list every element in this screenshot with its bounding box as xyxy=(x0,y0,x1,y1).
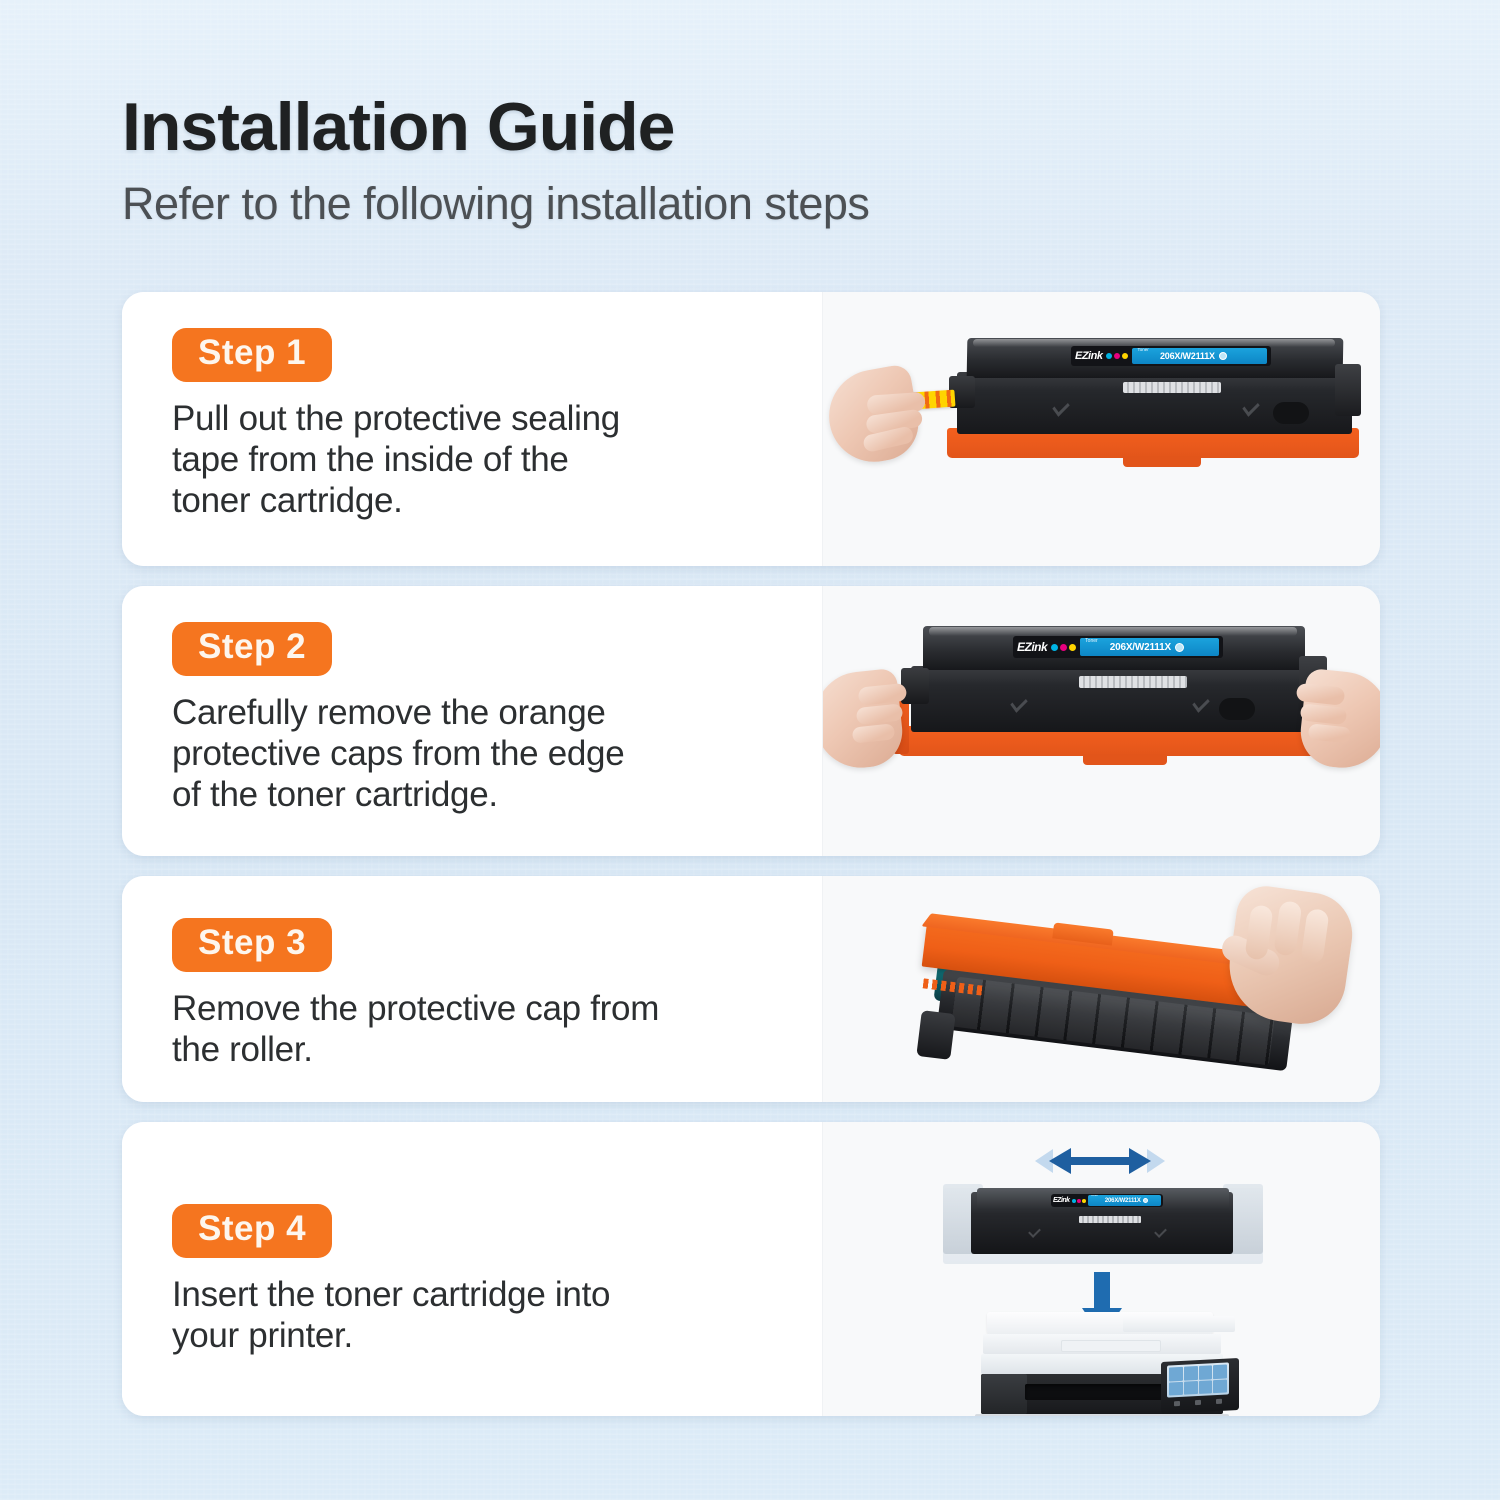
step-4-scene: EZink Toner Cartridge 206X/W2111X xyxy=(823,1122,1380,1416)
printer-touchscreen xyxy=(1167,1362,1229,1397)
label-model-number: 206X/W2111X xyxy=(1105,1198,1141,1204)
toner-cartridge-illustration: EZink Toner Cartridge 206X/W2111X xyxy=(943,1180,1263,1272)
header: Installation Guide Refer to the followin… xyxy=(122,92,869,229)
cartridge-right-endcap xyxy=(1335,364,1361,416)
toner-cartridge-illustration: EZink Toner Cartridge 206X/W2111X xyxy=(943,324,1363,469)
step-4-text-panel: Step 4 Insert the toner cartridge into y… xyxy=(122,1122,822,1416)
step-2-description: Carefully remove the orange protective c… xyxy=(172,692,772,816)
cartridge-label: EZink Toner Cartridge 206X/W2111X xyxy=(1071,346,1271,366)
printer-illustration xyxy=(973,1312,1243,1416)
step-3-text-panel: Step 3 Remove the protective cap from th… xyxy=(122,876,822,1102)
screen-app-icon xyxy=(1169,1367,1183,1381)
toner-cartridge-illustration: EZink Toner Cartridge 206X/W2111X xyxy=(893,610,1333,770)
finger xyxy=(1300,703,1348,725)
screen-app-icon xyxy=(1213,1379,1227,1393)
label-cyan-band: Toner Cartridge 206X/W2111X xyxy=(1088,1195,1161,1205)
step-3-illustration xyxy=(822,876,1380,1102)
screen-app-icon xyxy=(1184,1366,1198,1380)
step-3-description: Remove the protective cap from the rolle… xyxy=(172,988,772,1071)
printer-foot xyxy=(975,1414,1229,1416)
step-2-illustration: EZink Toner Cartridge 206X/W2111X xyxy=(822,586,1380,856)
label-cyan-band: Toner Cartridge 206X/W2111X xyxy=(1080,638,1219,655)
step-card-4: Step 4 Insert the toner cartridge into y… xyxy=(122,1122,1380,1416)
step-1-illustration: EZink Toner Cartridge 206X/W2111X xyxy=(822,292,1380,566)
label-cyan-band: Toner Cartridge 206X/W2111X xyxy=(1132,348,1267,364)
ezink-logo: EZink xyxy=(1017,640,1047,654)
label-sub-lines: Toner Cartridge xyxy=(1091,1195,1103,1205)
printer-document-feeder xyxy=(1123,1316,1235,1332)
step-1-badge: Step 1 xyxy=(172,328,332,382)
label-model-number: 206X/W2111X xyxy=(1110,642,1171,653)
step-1-text-panel: Step 1 Pull out the protective sealing t… xyxy=(122,292,822,566)
label-toner-text: Toner xyxy=(1085,638,1098,644)
screen-app-icon xyxy=(1199,1365,1213,1379)
finger xyxy=(1296,683,1346,706)
cmyk-dots-icon xyxy=(1051,644,1076,651)
printer-button xyxy=(1174,1400,1180,1405)
printer-output-tray xyxy=(1061,1340,1161,1352)
drum-left-endcap xyxy=(916,1010,955,1060)
screen-app-icon xyxy=(1169,1381,1183,1395)
screen-app-icon xyxy=(1184,1381,1198,1395)
installation-guide-page: Installation Guide Refer to the followin… xyxy=(0,0,1500,1500)
screen-app-icon xyxy=(1199,1380,1213,1394)
step-2-badge: Step 2 xyxy=(172,622,332,676)
cartridge-roller-grille xyxy=(1079,1216,1141,1223)
label-color-dot-icon xyxy=(1143,1198,1148,1203)
step-4-illustration: EZink Toner Cartridge 206X/W2111X xyxy=(822,1122,1380,1416)
ezink-logo: EZink xyxy=(1075,350,1102,362)
printer-side-panel xyxy=(981,1374,1027,1414)
label-model-number: 206X/W2111X xyxy=(1160,351,1215,361)
step-4-description: Insert the toner cartridge into your pri… xyxy=(172,1274,772,1357)
finger xyxy=(1308,723,1351,743)
label-sub-lines: Toner Cartridge xyxy=(1085,638,1106,655)
step-1-description: Pull out the protective sealing tape fro… xyxy=(172,398,772,522)
step-card-1: Step 1 Pull out the protective sealing t… xyxy=(122,292,1380,566)
cartridge-label: EZink Toner Cartridge 206X/W2111X xyxy=(1013,636,1223,658)
printer-paper-slot xyxy=(1025,1384,1175,1400)
step-card-2: Step 2 Carefully remove the orange prote… xyxy=(122,586,1380,856)
cartridge-left-endcap xyxy=(901,668,929,704)
cartridge-knob xyxy=(1219,698,1255,720)
label-toner-text: Toner xyxy=(1091,1195,1099,1196)
finger xyxy=(852,723,895,743)
printer-button xyxy=(1195,1399,1201,1404)
label-color-dot-icon xyxy=(1175,643,1184,652)
page-title: Installation Guide xyxy=(122,92,869,163)
cartridge-highlight xyxy=(929,627,1297,636)
cartridge-knob xyxy=(1273,402,1309,424)
label-color-dot-icon xyxy=(1219,352,1227,360)
cmyk-dots-icon xyxy=(1072,1199,1086,1203)
step-4-badge: Step 4 xyxy=(172,1204,332,1258)
printer-button xyxy=(1216,1398,1222,1403)
cartridge-roller-grille xyxy=(1123,382,1221,393)
finger xyxy=(856,703,904,725)
label-toner-text: Toner xyxy=(1137,348,1148,352)
page-subtitle: Refer to the following installation step… xyxy=(122,179,869,229)
screen-app-icon xyxy=(1213,1364,1227,1378)
cartridge-roller-grille xyxy=(1079,676,1187,688)
cartridge-orange-tab xyxy=(1123,456,1201,467)
cartridge-label: EZink Toner Cartridge 206X/W2111X xyxy=(1051,1194,1163,1207)
step-card-3: Step 3 Remove the protective cap from th… xyxy=(122,876,1380,1102)
ezink-logo: EZink xyxy=(1053,1197,1070,1204)
step-3-badge: Step 3 xyxy=(172,918,332,972)
finger xyxy=(1273,900,1302,957)
step-2-text-panel: Step 2 Carefully remove the orange prote… xyxy=(122,586,822,856)
hand-pulling-tape xyxy=(822,363,924,469)
finger xyxy=(1300,908,1329,965)
cartridge-orange-tab xyxy=(1083,754,1167,765)
drum-unit-illustration xyxy=(913,904,1333,1084)
cmyk-dots-icon xyxy=(1106,353,1128,359)
shake-double-arrow-icon xyxy=(1035,1144,1165,1178)
label-sub-lines: Toner Cartridge xyxy=(1137,348,1156,364)
